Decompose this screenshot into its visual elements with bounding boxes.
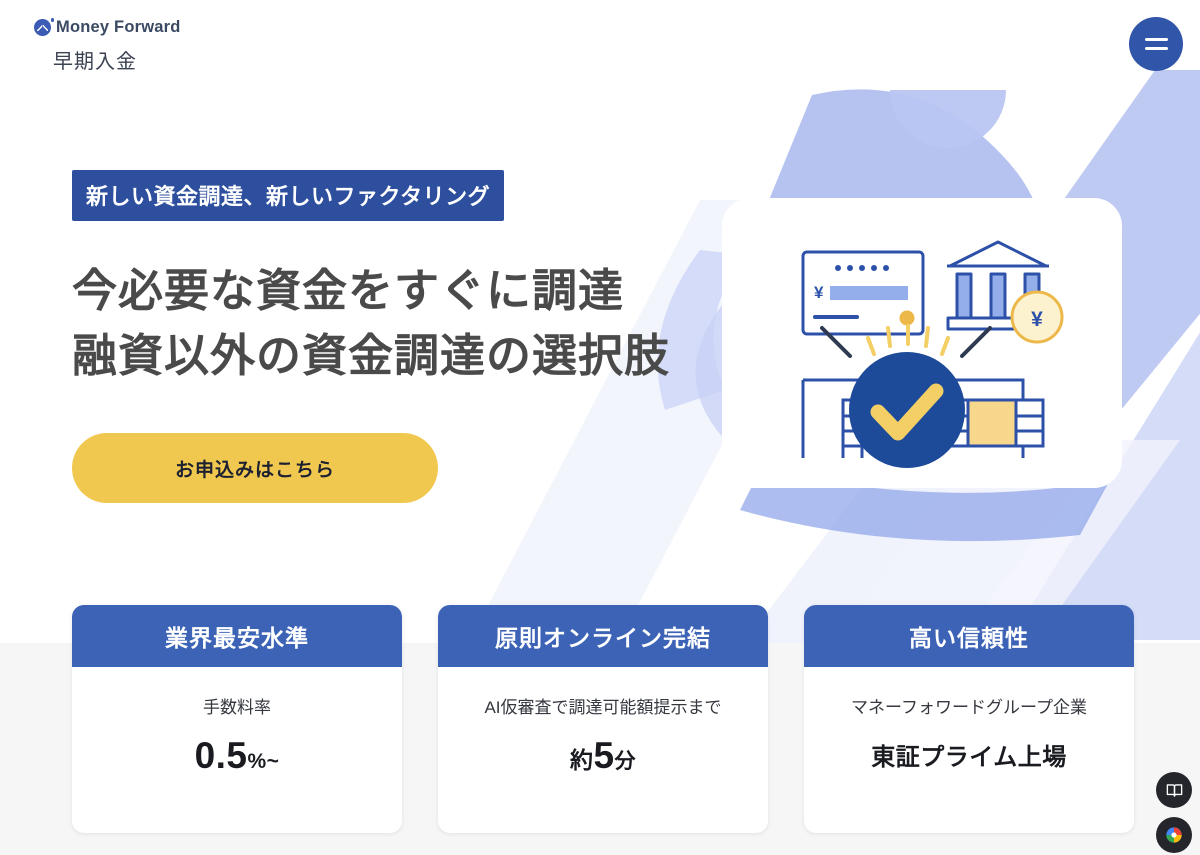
feature-card: 原則オンライン完結 AI仮審査で調達可能額提示まで 約 5 分 [438,605,768,833]
logo-dot-icon [51,18,55,22]
hero-illustration: ¥ ¥ [600,60,1200,620]
feature-card-description: マネーフォワードグループ企業 [851,693,1087,723]
value-number: 0.5 [195,737,248,774]
feature-card-description: AI仮審査で調達可能額提示まで [484,693,721,723]
value-number: 5 [593,737,614,774]
hero-title-line-1: 今必要な資金をすぐに調達 [72,259,670,324]
feature-card-value: 東証プライム上場 [871,737,1067,772]
brand-wordmark: Money Forward [56,18,181,37]
service-name: 早期入金 [53,45,181,74]
hamburger-bar-top [1145,38,1168,41]
check-badge-icon [849,352,965,468]
book-reader-icon [1165,781,1184,800]
feature-card-body: 手数料率 0.5 %~ [72,667,402,833]
apply-cta-button[interactable]: お申込みはこちら [72,433,438,503]
invoice-card-icon: ¥ [803,252,923,334]
svg-text:¥: ¥ [1031,308,1043,331]
feature-card-value: 約 5 分 [570,737,636,775]
value-unit: 分 [615,745,637,775]
feature-card: 高い信頼性 マネーフォワードグループ企業 東証プライム上場 [804,605,1134,833]
page-root: Money Forward 早期入金 ¥ [0,0,1200,855]
site-header: Money Forward 早期入金 [0,0,1200,88]
hero-badge: 新しい資金調達、新しいファクタリング [72,170,504,221]
feature-card-body: AI仮審査で調達可能額提示まで 約 5 分 [438,667,768,833]
feature-card-heading: 原則オンライン完結 [438,605,768,667]
feature-card-description: 手数料率 [203,693,271,723]
value-prefix: 約 [570,741,594,775]
svg-text:¥: ¥ [814,283,824,302]
page-title: 今必要な資金をすぐに調達 融資以外の資金調達の選択肢 [72,259,670,389]
translate-globe-icon-button[interactable] [1156,817,1192,853]
value-unit: %~ [248,750,280,774]
hamburger-menu-button[interactable] [1129,17,1183,71]
yen-coin-icon: ¥ [1012,292,1062,342]
book-reader-icon-button[interactable] [1156,772,1192,808]
feature-card-body: マネーフォワードグループ企業 東証プライム上場 [804,667,1134,833]
floating-widget-stack [1156,772,1192,853]
feature-card-value: 0.5 %~ [195,737,280,774]
money-forward-logo-icon [34,19,51,36]
hero-title-line-2: 融資以外の資金調達の選択肢 [72,324,670,389]
brand-row: Money Forward [34,18,181,37]
feature-card-heading: 業界最安水準 [72,605,402,667]
feature-card-heading: 高い信頼性 [804,605,1134,667]
hamburger-bar-bottom [1145,47,1168,50]
hero-text-block: 新しい資金調達、新しいファクタリング 今必要な資金をすぐに調達 融資以外の資金調… [72,170,670,389]
feature-card-list: 業界最安水準 手数料率 0.5 %~ 原則オンライン完結 AI仮審査で調達可能額… [72,605,1134,833]
brand-block[interactable]: Money Forward 早期入金 [34,18,181,74]
feature-card: 業界最安水準 手数料率 0.5 %~ [72,605,402,833]
factoring-illustration-svg: ¥ ¥ [600,60,1200,620]
translate-globe-icon [1164,825,1184,845]
